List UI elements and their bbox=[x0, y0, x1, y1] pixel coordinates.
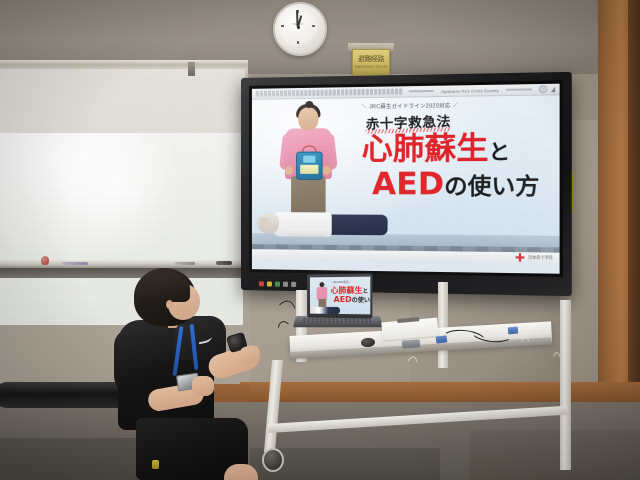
red-cross-icon bbox=[516, 253, 525, 261]
wall-mounted-display[interactable]: Japanese Red Cross Society bbox=[241, 72, 572, 296]
whiteboard-clip bbox=[188, 62, 195, 76]
slide-title-line1-red: 心肺蘇生 bbox=[362, 131, 489, 168]
player-tab-strip bbox=[256, 88, 402, 96]
cart-post-right bbox=[438, 282, 448, 368]
power-adapter[interactable] bbox=[402, 339, 421, 348]
laptop-slide-title2: AEDの使い方 bbox=[334, 294, 370, 303]
marker-pen bbox=[175, 262, 195, 265]
clock-face: SEIKO bbox=[279, 8, 317, 46]
slide-title-line2-black: の使い方 bbox=[444, 175, 539, 201]
slide-cpr-manikin bbox=[257, 208, 390, 241]
exit-sign-label: 避難経路 bbox=[353, 54, 389, 64]
clock-center-pin bbox=[297, 26, 300, 29]
slide-title-line1: 心肺蘇生と bbox=[362, 134, 511, 168]
red-magnet-icon bbox=[41, 256, 49, 265]
clipboard-clip bbox=[397, 317, 419, 323]
player-seek-bar-right[interactable] bbox=[505, 89, 532, 91]
laptop-keyboard[interactable] bbox=[302, 318, 371, 323]
person-knee bbox=[224, 464, 258, 480]
laptop-slide-figure bbox=[314, 282, 328, 308]
slide-title-line2: AEDの使い方 bbox=[372, 169, 539, 204]
wall-clock: SEIKO bbox=[273, 2, 327, 56]
slide-title-line2-red: AED bbox=[372, 166, 444, 202]
marker-pen bbox=[216, 261, 232, 265]
fullscreen-icon[interactable] bbox=[551, 86, 555, 91]
presentation-slide: ＼ JRC蘇生ガイドライン2020対応 ／ 赤十字救急法 心肺蘇生と AEDの使… bbox=[252, 95, 560, 263]
person-left-hand bbox=[192, 376, 214, 396]
photo-scene: SEIKO 避難経路 EMERGENCY ROUTE bbox=[0, 0, 640, 480]
slide-instructor-figure bbox=[276, 105, 343, 219]
player-title: Japanese Red Cross Society bbox=[441, 87, 499, 93]
marker-pen bbox=[62, 262, 88, 265]
player-seek-bar[interactable] bbox=[409, 90, 435, 92]
exit-sign-sublabel: EMERGENCY ROUTE bbox=[353, 65, 389, 69]
laptop-slide-manikin bbox=[310, 306, 339, 313]
laptop-lid: ＼JRC2020対応／ 心肺蘇生と AEDの使い方 bbox=[307, 273, 372, 318]
slide-footer-logo-text: 日本赤十字社 bbox=[528, 254, 553, 261]
person-ear bbox=[166, 300, 173, 309]
whiteboard-top-rail bbox=[0, 60, 248, 69]
laptop-slide-kicker: ＼JRC2020対応／ bbox=[331, 279, 352, 283]
whiteboard bbox=[0, 62, 248, 274]
volume-icon[interactable] bbox=[539, 85, 548, 94]
slide-footer: 日本赤十字社 bbox=[252, 249, 560, 263]
display-screen[interactable]: Japanese Red Cross Society bbox=[252, 84, 560, 274]
seated-participant bbox=[112, 268, 262, 480]
aed-bag-icon bbox=[296, 152, 322, 180]
laptop[interactable]: ＼JRC2020対応／ 心肺蘇生と AEDの使い方 bbox=[296, 274, 380, 340]
vga-connector[interactable] bbox=[508, 327, 519, 335]
wood-door-frame-edge bbox=[628, 0, 640, 430]
cart-caster-wheel bbox=[262, 448, 284, 472]
laptop-slide-title1-red: 心肺蘇生 bbox=[331, 285, 363, 294]
laptop-slide-title2-black: の使い方 bbox=[352, 297, 370, 304]
slide-title-line1-black: と bbox=[489, 139, 511, 164]
shorts-logo-icon bbox=[152, 460, 159, 469]
laptop-screen[interactable]: ＼JRC2020対応／ 心肺蘇生と AEDの使い方 bbox=[310, 276, 370, 314]
slide-lead-text: ＼ JRC蘇生ガイドライン2020対応 ／ bbox=[362, 102, 459, 110]
exit-sign: 避難経路 EMERGENCY ROUTE bbox=[352, 49, 390, 77]
floor-mat bbox=[470, 430, 640, 480]
laptop-slide-title2-red: AED bbox=[334, 294, 352, 303]
vga-connector[interactable] bbox=[436, 335, 448, 343]
person-hair-front bbox=[152, 272, 190, 302]
